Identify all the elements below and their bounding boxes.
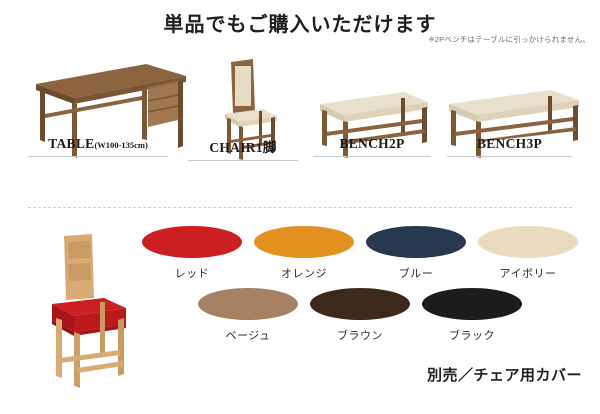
label-table-main: TABLE — [48, 136, 94, 151]
product-label-row: TABLE(W100-135cm) CHAIR1脚 BENCH2P BENCH3… — [0, 136, 600, 160]
swatch-black[interactable]: ブラック — [418, 288, 526, 343]
catalog-page: 単品でもご購入いただけます ※2Pベンチはテーブルに引っかけられません。 — [0, 0, 600, 414]
swatch-beige-label: ベージュ — [194, 327, 302, 343]
swatch-beige-oval — [198, 288, 298, 320]
page-title: 単品でもご購入いただけます — [0, 8, 600, 37]
label-chair: CHAIR1脚 — [188, 136, 298, 161]
swatch-ivory-label: アイボリー — [474, 265, 582, 281]
swatch-orange-label: オレンジ — [250, 265, 358, 281]
swatch-orange-oval — [254, 226, 354, 258]
label-table-sub: (W100-135cm) — [94, 140, 147, 150]
swatch-brown-oval — [310, 288, 410, 320]
swatch-blue-oval — [366, 226, 466, 258]
swatch-blue[interactable]: ブルー — [362, 226, 470, 281]
section-divider — [28, 207, 572, 208]
swatch-black-oval — [422, 288, 522, 320]
color-swatch-grid: レッド オレンジ ブルー アイボリー ベージュ ブラウン ブラック — [0, 226, 600, 341]
label-table: TABLE(W100-135cm) — [28, 136, 168, 157]
swatch-red[interactable]: レッド — [138, 226, 246, 281]
swatch-brown-label: ブラウン — [306, 327, 414, 343]
swatch-beige[interactable]: ベージュ — [194, 288, 302, 343]
label-chair-main: CHAIR1脚 — [209, 140, 276, 155]
swatch-orange[interactable]: オレンジ — [250, 226, 358, 281]
cover-section-title: 別売／チェア用カバー — [427, 364, 582, 385]
label-bench-3p: BENCH3P — [447, 136, 572, 157]
label-bench-2p-main: BENCH2P — [339, 136, 404, 151]
label-bench-2p: BENCH2P — [313, 136, 431, 157]
swatch-brown[interactable]: ブラウン — [306, 288, 414, 343]
swatch-ivory-oval — [478, 226, 578, 258]
label-bench-3p-main: BENCH3P — [477, 136, 542, 151]
swatch-blue-label: ブルー — [362, 265, 470, 281]
swatch-red-label: レッド — [138, 265, 246, 281]
swatch-black-label: ブラック — [418, 327, 526, 343]
swatch-red-oval — [142, 226, 242, 258]
swatch-ivory[interactable]: アイボリー — [474, 226, 582, 281]
